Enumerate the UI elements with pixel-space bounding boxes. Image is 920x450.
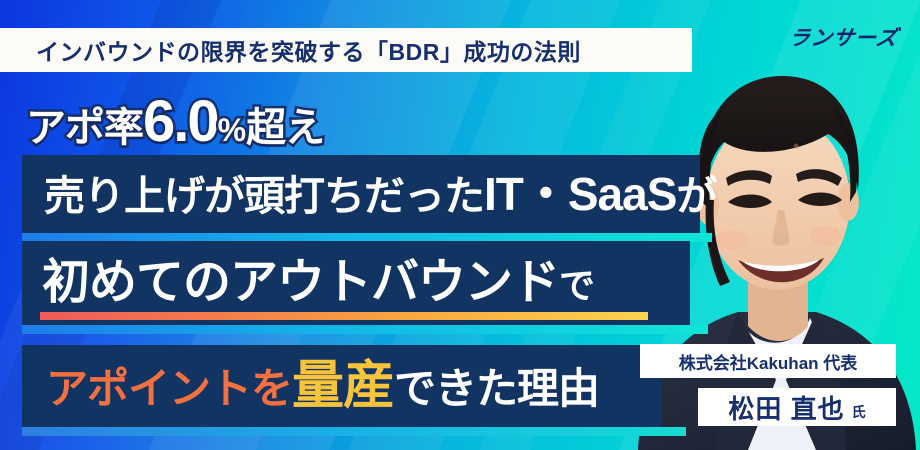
rate-unit: % xyxy=(218,112,246,149)
lancers-logo: ランサーズ xyxy=(787,22,900,52)
appointment-rate-headline: アポ率 6.0 % 超え xyxy=(26,88,324,155)
speaker-name-box: 松田 直也 氏 xyxy=(698,388,896,426)
rate-prefix: アポ率 xyxy=(26,95,143,153)
headline-line-3: アポイントを量産できた理由 xyxy=(22,360,599,412)
band-3-underline xyxy=(22,427,686,436)
speaker-name: 松田 直也 xyxy=(728,389,844,426)
rate-value: 6.0 xyxy=(143,88,218,155)
headline-band-3: アポイントを量産できた理由 xyxy=(22,345,662,427)
headline-line-1-tail: が xyxy=(676,173,716,219)
promo-banner: ランサーズ インバウンドの限界を突破する「BDR」成功の法則 アポ率 6.0 %… xyxy=(0,0,920,450)
band-2-underline xyxy=(22,325,708,334)
speaker-company-box: 株式会社Kakuhan 代表 xyxy=(640,344,896,378)
headline-line-3-white: できた理由 xyxy=(394,365,599,412)
kicker-text: インバウンドの限界を突破する「BDR」成功の法則 xyxy=(36,33,581,67)
rate-suffix: 超え xyxy=(246,95,324,153)
speaker-honorific: 氏 xyxy=(852,402,866,422)
headline-line-3-yellow: 量産 xyxy=(292,357,394,415)
headline-line-2-tail: で xyxy=(559,265,594,306)
kicker-banner: インバウンドの限界を突破する「BDR」成功の法則 xyxy=(0,28,692,72)
headline-line-1: 売り上げが頭打ちだったIT・SaaSが xyxy=(22,171,716,217)
warm-gradient-underline xyxy=(40,312,648,320)
headline-line-2: 初めてのアウトバウンドで xyxy=(22,259,594,307)
speaker-company: 株式会社Kakuhan 代表 xyxy=(679,349,858,374)
headline-line-1-latin: IT・SaaS xyxy=(484,168,676,220)
headline-line-3-orange: アポイントを xyxy=(46,365,292,412)
headline-line-2-main: 初めてのアウトバウンド xyxy=(42,256,559,309)
headline-band-1: 売り上げが頭打ちだったIT・SaaSが xyxy=(22,155,700,233)
headline-line-1-lead: 売り上げが頭打ちだった xyxy=(44,173,484,219)
